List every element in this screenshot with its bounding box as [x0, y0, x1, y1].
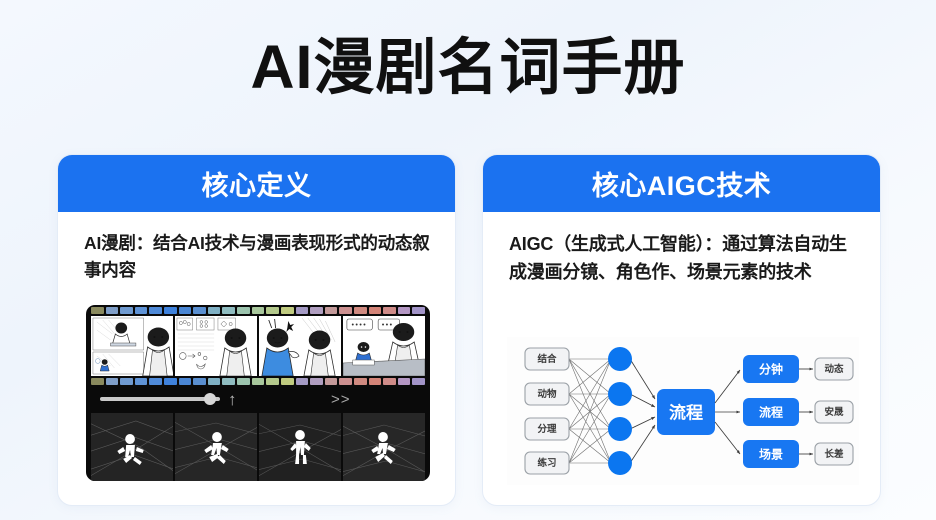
up-arrow-icon[interactable]: ↑ — [228, 391, 237, 408]
film-sprocket — [398, 378, 411, 385]
network-center-node: 流程 — [657, 389, 715, 435]
network-input-node: 结合 — [525, 348, 569, 370]
card-core-definition: 核心定义 AI漫剧：结合AI技术与漫画表现形式的动态叙事内容 — [57, 154, 456, 506]
network-input-node: 动物 — [525, 383, 569, 405]
network-mid-label: 场景 — [759, 448, 783, 462]
film-sprocket — [135, 378, 148, 385]
network-hidden-node — [608, 451, 632, 475]
neural-network-diagram: 结合 动物 分理 练习 流程 — [507, 337, 859, 485]
card-body-core-aigc-tech: AIGC（生成式人工智能）：通过算法自动生成漫画分镜、角色作、场景元素的技术 — [483, 212, 880, 287]
film-sprocket — [91, 378, 104, 385]
film-sprocket — [106, 307, 119, 314]
film-sprocket — [208, 378, 221, 385]
film-sprocket — [369, 307, 382, 314]
card-core-aigc-tech: 核心AIGC技术 AIGC（生成式人工智能）：通过算法自动生成漫画分镜、角色作、… — [482, 154, 881, 506]
comic-panel[interactable] — [343, 316, 425, 376]
film-sprocket — [193, 307, 206, 314]
motion-frame[interactable] — [259, 413, 341, 481]
network-input-label: 动物 — [537, 388, 557, 400]
card-text-core-aigc-tech: AIGC（生成式人工智能）：通过算法自动生成漫画分镜、角色作、场景元素的技术 — [509, 230, 858, 287]
film-sprocket — [208, 307, 221, 314]
film-sprocket — [369, 378, 382, 385]
seek-slider[interactable] — [100, 397, 220, 401]
playback-control-bar: ↑ >> — [86, 389, 430, 413]
film-sprocket — [412, 307, 425, 314]
network-center-label: 流程 — [669, 403, 703, 423]
film-sprocket — [354, 378, 367, 385]
network-mid-node: 场景 — [743, 440, 799, 468]
card-header-core-aigc-tech: 核心AIGC技术 — [483, 155, 880, 212]
page-title: AI漫剧名词手册 — [0, 34, 936, 101]
network-hidden-node — [608, 347, 632, 371]
film-sprocket — [237, 378, 250, 385]
film-sprocket-row-top — [86, 305, 430, 316]
network-output-node: 动态 — [815, 358, 853, 380]
film-sprocket — [164, 378, 177, 385]
network-input-label: 结合 — [536, 353, 557, 365]
film-sprocket — [412, 378, 425, 385]
motion-frame[interactable] — [91, 413, 173, 481]
network-input-node: 分理 — [525, 418, 569, 440]
film-sprocket — [310, 307, 323, 314]
network-hidden-node — [608, 382, 632, 406]
film-sprocket — [179, 378, 192, 385]
network-input-node: 练习 — [525, 452, 569, 474]
film-sprocket — [106, 378, 119, 385]
film-sprocket — [222, 378, 235, 385]
card-text-core-definition: AI漫剧：结合AI技术与漫画表现形式的动态叙事内容 — [84, 230, 433, 283]
film-sprocket — [149, 378, 162, 385]
film-sprocket — [281, 378, 294, 385]
motion-frame[interactable] — [343, 413, 425, 481]
film-sprocket — [252, 378, 265, 385]
film-sprocket — [383, 378, 396, 385]
network-output-label: 安晟 — [824, 406, 844, 418]
seek-slider-knob[interactable] — [204, 393, 216, 405]
comic-panel[interactable] — [175, 316, 257, 376]
film-sprocket — [398, 307, 411, 314]
film-sprocket — [135, 307, 148, 314]
film-sprocket — [149, 307, 162, 314]
motion-frame-row — [91, 413, 425, 481]
comic-panel-row — [91, 316, 425, 376]
film-sprocket — [193, 378, 206, 385]
film-sprocket — [339, 378, 352, 385]
network-mid-node: 流程 — [743, 398, 799, 426]
film-sprocket — [339, 307, 352, 314]
card-body-core-definition: AI漫剧：结合AI技术与漫画表现形式的动态叙事内容 — [58, 212, 455, 283]
network-mid-label: 分钟 — [759, 362, 783, 377]
film-sprocket — [164, 307, 177, 314]
media-preview-widget: ↑ >> — [86, 305, 430, 481]
film-sprocket — [310, 378, 323, 385]
film-sprocket — [325, 378, 338, 385]
network-output-node: 安晟 — [815, 401, 853, 423]
card-header-core-definition: 核心定义 — [58, 155, 455, 212]
film-sprocket — [120, 307, 133, 314]
network-input-label: 练习 — [537, 457, 556, 469]
fast-forward-icon[interactable]: >> — [331, 392, 351, 407]
film-sprocket — [281, 307, 294, 314]
film-sprocket — [252, 307, 265, 314]
motion-frame[interactable] — [175, 413, 257, 481]
film-sprocket — [120, 378, 133, 385]
film-sprocket — [296, 307, 309, 314]
film-sprocket — [222, 307, 235, 314]
comic-panel[interactable] — [259, 316, 341, 376]
network-mid-label: 流程 — [759, 405, 783, 420]
film-sprocket — [354, 307, 367, 314]
network-output-label: 动态 — [824, 363, 844, 375]
network-input-label: 分理 — [537, 423, 557, 435]
film-sprocket — [179, 307, 192, 314]
film-sprocket — [296, 378, 309, 385]
network-output-label: 长差 — [824, 448, 844, 460]
film-sprocket — [325, 307, 338, 314]
film-sprocket — [383, 307, 396, 314]
film-sprocket — [91, 307, 104, 314]
network-hidden-node — [608, 417, 632, 441]
network-mid-node: 分钟 — [743, 355, 799, 383]
film-sprocket — [266, 307, 279, 314]
film-sprocket — [237, 307, 250, 314]
film-sprocket-row-bottom — [86, 376, 430, 387]
network-output-node: 长差 — [815, 443, 853, 465]
comic-panel[interactable] — [91, 316, 173, 376]
film-sprocket — [266, 378, 279, 385]
